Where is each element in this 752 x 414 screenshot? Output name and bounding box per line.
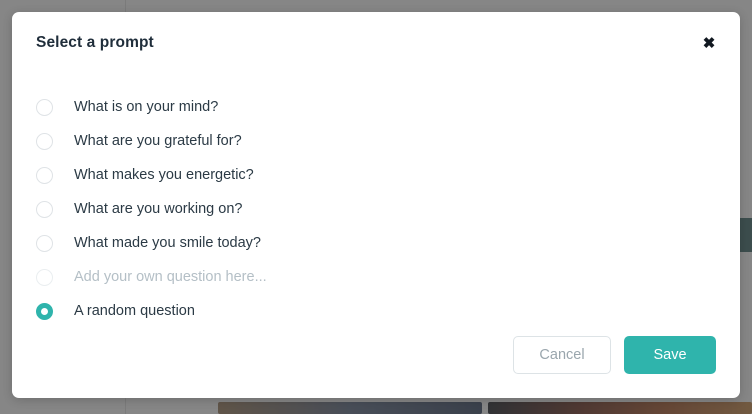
prompt-option-list: What is on your mind?What are you gratef… [36, 90, 596, 328]
radio-button[interactable] [36, 269, 53, 286]
prompt-option-row[interactable]: What made you smile today? [36, 226, 596, 260]
prompt-option-label: What makes you energetic? [74, 167, 254, 183]
dialog-title: Select a prompt [36, 34, 154, 52]
radio-button[interactable] [36, 201, 53, 218]
prompt-option-row[interactable]: What are you grateful for? [36, 124, 596, 158]
select-prompt-dialog: Select a prompt ✖ What is on your mind?W… [12, 12, 740, 398]
prompt-option-row[interactable]: A random question [36, 294, 596, 328]
prompt-option-label: What is on your mind? [74, 99, 218, 115]
radio-button[interactable] [36, 167, 53, 184]
radio-button-selected[interactable] [36, 303, 53, 320]
radio-button[interactable] [36, 133, 53, 150]
prompt-option-label: What are you grateful for? [74, 133, 242, 149]
prompt-option-label: Add your own question here... [74, 269, 267, 285]
prompt-option-row[interactable]: What makes you energetic? [36, 158, 596, 192]
radio-button[interactable] [36, 99, 53, 116]
cancel-button[interactable]: Cancel [513, 336, 611, 374]
save-button[interactable]: Save [624, 336, 716, 374]
prompt-option-row[interactable]: What is on your mind? [36, 90, 596, 124]
dialog-actions: Cancel Save [513, 336, 716, 374]
radio-button[interactable] [36, 235, 53, 252]
prompt-option-row[interactable]: What are you working on? [36, 192, 596, 226]
close-icon[interactable]: ✖ [696, 30, 722, 56]
prompt-option-label: What are you working on? [74, 201, 242, 217]
prompt-option-label: A random question [74, 303, 195, 319]
prompt-option-label: What made you smile today? [74, 235, 261, 251]
prompt-option-row[interactable]: Add your own question here... [36, 260, 596, 294]
